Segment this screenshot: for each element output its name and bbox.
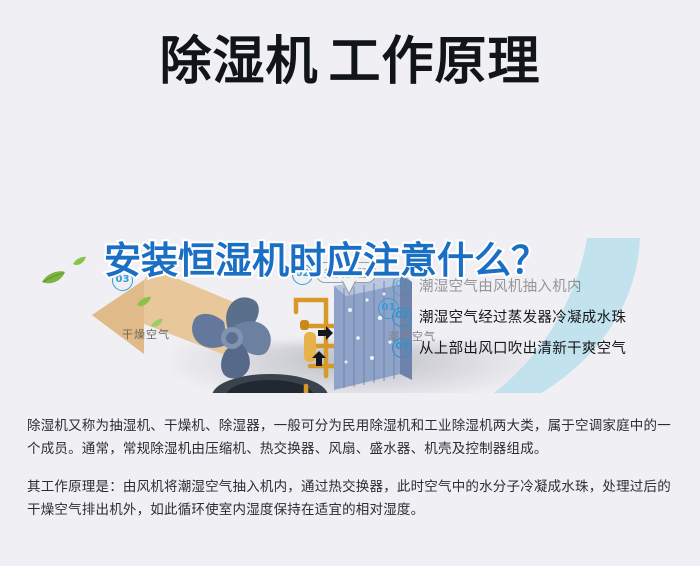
legend-label: 潮湿空气经过蒸发器冷凝成水珠 [419, 306, 626, 327]
legend-badge: 02 [392, 307, 412, 327]
leaf-icon [72, 256, 87, 267]
page-title-part1: 除湿机 [159, 32, 318, 92]
article-body: 除湿机又称为抽湿机、干燥机、除湿器，一般可分为民用除湿机和工业除湿机两大类，属于… [27, 415, 675, 522]
page-title: 除湿机工作原理 [159, 36, 540, 88]
legend-item: 03 从上部出风口吹出清新干爽空气 [392, 332, 692, 363]
legend-item: 02 潮湿空气经过蒸发器冷凝成水珠 [392, 301, 692, 332]
body-paragraph-1: 除湿机又称为抽湿机、干燥机、除湿器，一般可分为民用除湿机和工业除湿机两大类，属于… [27, 415, 675, 461]
leaf-icon [150, 318, 164, 329]
legend-label: 从上部出风口吹出清新干爽空气 [419, 337, 626, 358]
body-paragraph-2: 其工作原理是：由风机将潮湿空气抽入机内，通过热交换器，此时空气中的水分子冷凝成水… [27, 476, 675, 522]
page-header: 除湿机工作原理 [0, 22, 700, 102]
page-title-part2: 工作原理 [329, 32, 541, 92]
callout-pointer-icon [340, 280, 358, 300]
overlay-headline: 安装恒湿机时应注意什么？ [104, 243, 624, 279]
poster-root: 除湿机工作原理 干燥空气 [0, 0, 700, 566]
leaf-icon [40, 270, 66, 286]
leaf-icon [136, 296, 152, 308]
legend-badge: 03 [392, 338, 412, 358]
legend-list: 01 潮湿空气由风机抽入机内 02 潮湿空气经过蒸发器冷凝成水珠 03 从上部出… [392, 270, 692, 363]
